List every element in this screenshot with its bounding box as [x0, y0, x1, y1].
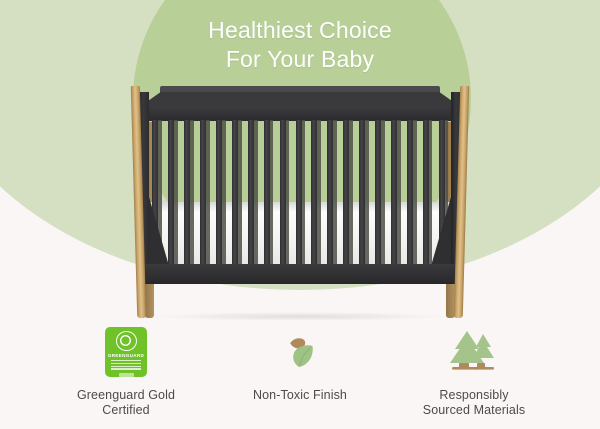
crib-slat: [359, 120, 365, 275]
crib-slat: [391, 120, 397, 275]
feature-label-line-2: Certified: [102, 403, 149, 417]
feature-label-line-2: Sourced Materials: [423, 403, 525, 417]
crib-slat-back: [301, 120, 305, 275]
crib-rail-front-top: [138, 106, 462, 121]
crib-product-image: [128, 86, 472, 318]
crib-slat: [407, 120, 413, 275]
greenguard-gold-badge-icon: GREENGUARD: [51, 324, 201, 380]
greenguard-leaf-mark-icon: [116, 331, 137, 351]
greenguard-fineprint: [111, 360, 141, 371]
crib-slat-back: [349, 120, 353, 275]
crib-slat-back: [269, 120, 273, 275]
pine-trees-icon: [399, 324, 549, 380]
feature-non-toxic: Non-Toxic Finish: [225, 324, 375, 403]
crib-slat-back: [238, 120, 242, 275]
crib-slat-back: [317, 120, 321, 275]
crib-slat: [280, 120, 286, 275]
crib-slats-group: [149, 120, 451, 275]
feature-label-sourced: Responsibly Sourced Materials: [399, 388, 549, 418]
crib-slat-back: [428, 120, 432, 275]
crib-slat-back: [285, 120, 289, 275]
greenguard-gold-tier: [119, 373, 134, 377]
headline-line-2: For Your Baby: [0, 45, 600, 74]
feature-label-non-toxic: Non-Toxic Finish: [225, 388, 375, 403]
crib-slat: [423, 120, 429, 275]
crib-slat-back: [174, 120, 178, 275]
crib-slat-back: [381, 120, 385, 275]
promo-image: Healthiest Choice For Your Baby: [0, 0, 600, 429]
crib-slat: [248, 120, 254, 275]
crib-slat: [216, 120, 222, 275]
feature-greenguard: GREENGUARD Greenguard Gold Certified: [51, 324, 201, 418]
crib-rail-bottom: [138, 264, 462, 284]
page-title: Healthiest Choice For Your Baby: [0, 16, 600, 74]
feature-badges-row: GREENGUARD Greenguard Gold Certified: [0, 324, 600, 418]
crib-slat-back: [206, 120, 210, 275]
crib-slat: [343, 120, 349, 275]
headline-line-1: Healthiest Choice: [0, 16, 600, 45]
feature-label-line-1: Non-Toxic Finish: [253, 388, 347, 402]
feature-label-line-1: Responsibly: [439, 388, 508, 402]
crib-slat: [200, 120, 206, 275]
crib-slat-back: [413, 120, 417, 275]
crib-slat: [232, 120, 238, 275]
crib-slat-back: [333, 120, 337, 275]
crib-slat: [311, 120, 317, 275]
crib-slat: [296, 120, 302, 275]
crib-slat-back: [254, 120, 258, 275]
crib-slat: [327, 120, 333, 275]
feature-label-line-1: Greenguard Gold: [77, 388, 175, 402]
greenguard-wordmark: GREENGUARD: [108, 353, 144, 358]
feature-label-greenguard: Greenguard Gold Certified: [51, 388, 201, 418]
crib-slat: [168, 120, 174, 275]
crib-slat-back: [190, 120, 194, 275]
crib-slat: [375, 120, 381, 275]
crib-slat-back: [365, 120, 369, 275]
feature-sourced-materials: Responsibly Sourced Materials: [399, 324, 549, 418]
crib-slat-back: [222, 120, 226, 275]
crib-slat: [264, 120, 270, 275]
leaf-icon: [225, 324, 375, 380]
crib-frame: [138, 86, 462, 284]
crib-slat-back: [397, 120, 401, 275]
crib-slat: [184, 120, 190, 275]
